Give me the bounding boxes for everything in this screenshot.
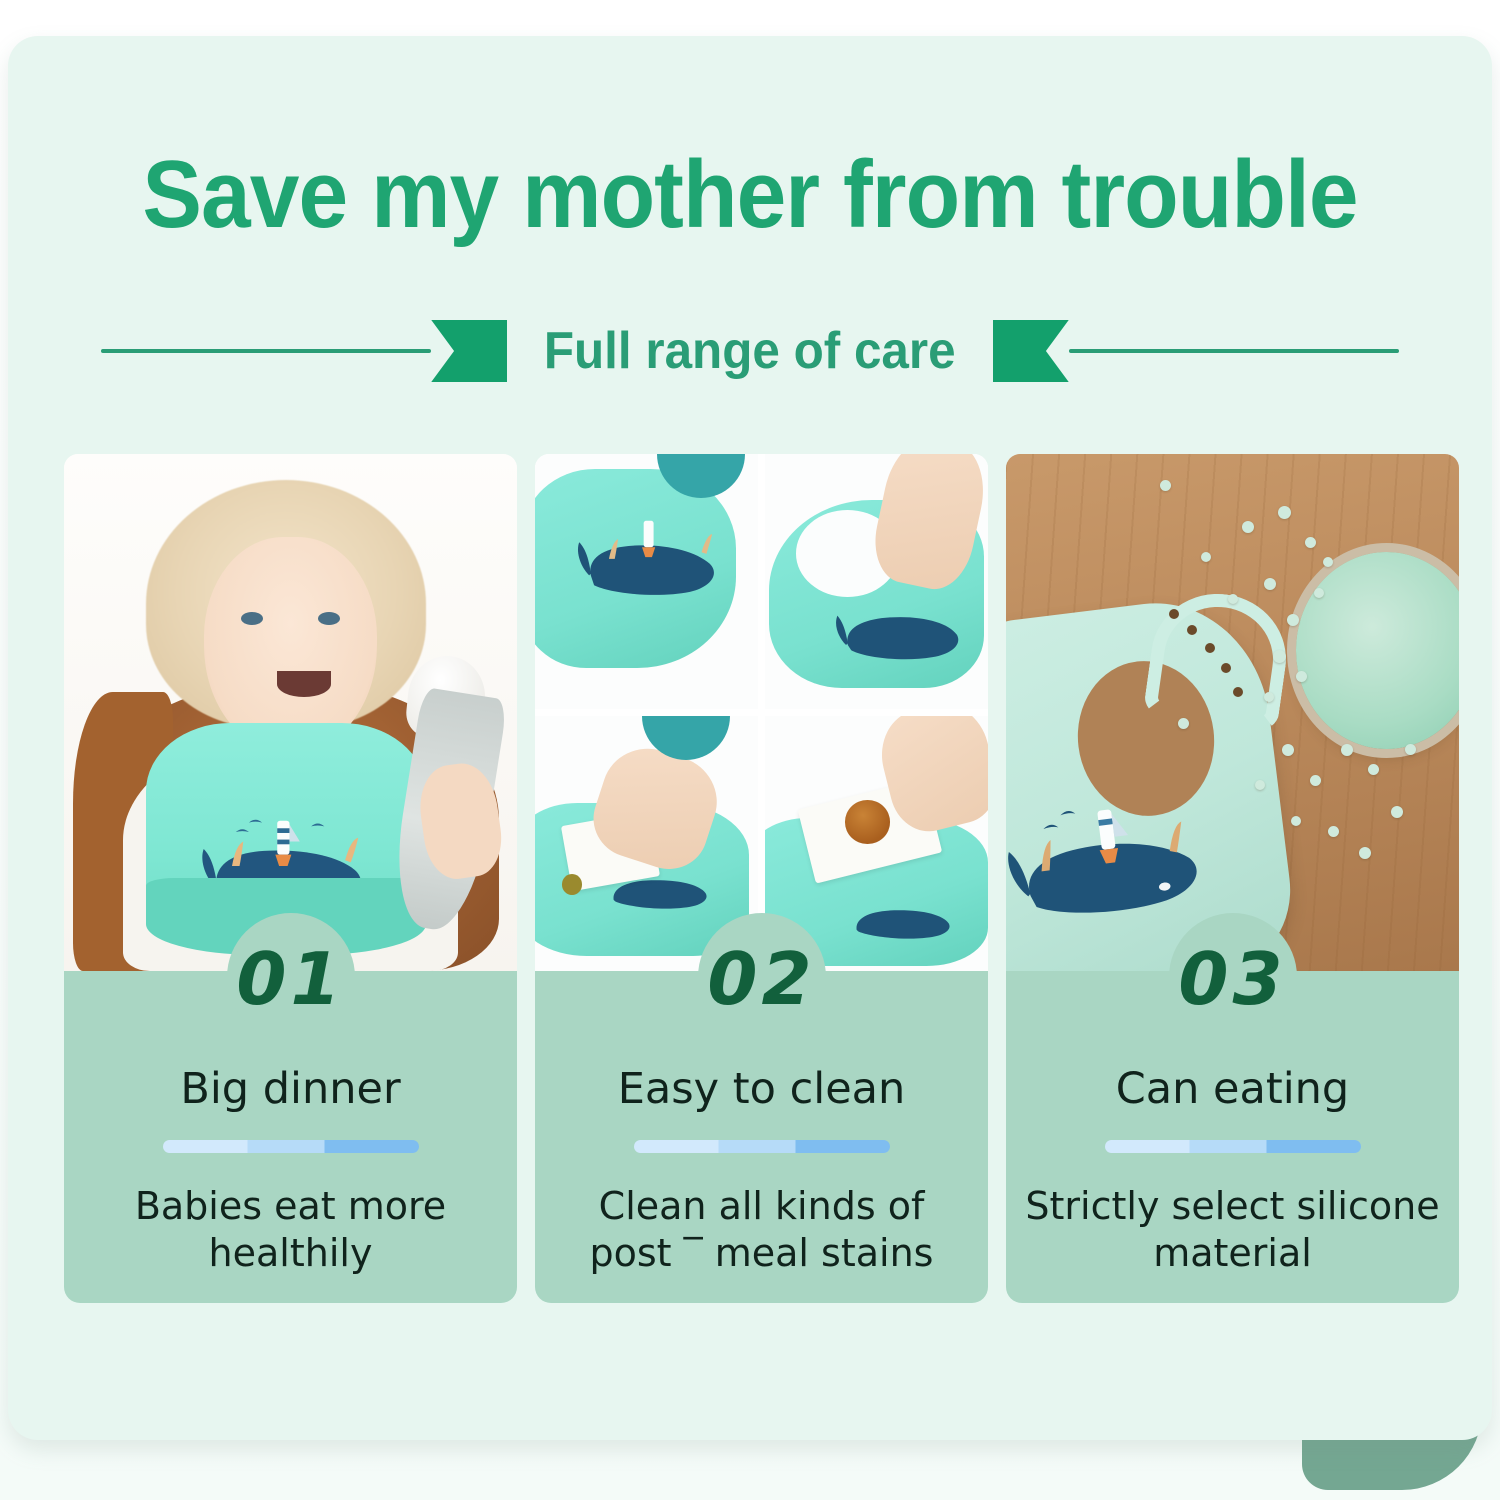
clean-step-panel-1 bbox=[535, 454, 758, 709]
infographic-root: Save my mother from trouble Full range o… bbox=[0, 0, 1500, 1500]
silicone-pellet bbox=[1228, 594, 1238, 604]
silicone-pellet bbox=[1405, 744, 1416, 755]
silicone-pellet bbox=[1310, 775, 1321, 786]
card-number: 02 bbox=[707, 937, 815, 1021]
feature-card: 02 Easy to clean Clean all kinds of post… bbox=[535, 454, 988, 1303]
card-photo-easy-to-clean bbox=[535, 454, 988, 971]
silicone-pellet bbox=[1160, 480, 1171, 491]
silicone-pellet bbox=[1391, 806, 1403, 818]
feature-card: 03 Can eating Strictly select silicone m… bbox=[1006, 454, 1459, 1303]
rule-right bbox=[1069, 349, 1399, 353]
silicone-pellet bbox=[1278, 506, 1291, 519]
silicone-pellet bbox=[1341, 744, 1353, 756]
silicone-pellet bbox=[1255, 780, 1265, 790]
silicone-pellet bbox=[1296, 671, 1307, 682]
food-crumb-shape bbox=[562, 874, 582, 894]
flag-left-icon bbox=[431, 320, 507, 382]
rule-left bbox=[101, 349, 431, 353]
feature-card-list: 01 Big dinner Babies eat more healthily bbox=[64, 454, 1460, 1303]
page-title: Save my mother from trouble bbox=[60, 140, 1440, 250]
silicone-pellet bbox=[1305, 537, 1316, 548]
clean-step-panel-2 bbox=[765, 454, 988, 709]
child-eye-right-shape bbox=[318, 612, 340, 625]
card-description: Clean all kinds of post ‾ meal stains bbox=[553, 1183, 970, 1277]
card-divider-bar bbox=[634, 1140, 890, 1153]
strap-hole bbox=[1233, 687, 1243, 697]
card-number: 01 bbox=[236, 937, 344, 1021]
silicone-pellet bbox=[1282, 744, 1294, 756]
strap-hole bbox=[1205, 643, 1215, 653]
card-body: 03 Can eating Strictly select silicone m… bbox=[1006, 971, 1459, 1303]
card-photo-big-dinner bbox=[64, 454, 517, 971]
child-eye-left-shape bbox=[241, 612, 263, 625]
feature-card: 01 Big dinner Babies eat more healthily bbox=[64, 454, 517, 1303]
subtitle-row: Full range of care bbox=[8, 306, 1492, 396]
whale-lighthouse-print-icon bbox=[1006, 762, 1215, 962]
card-body: 01 Big dinner Babies eat more healthily bbox=[64, 971, 517, 1303]
card-body: 02 Easy to clean Clean all kinds of post… bbox=[535, 971, 988, 1303]
page-subtitle: Full range of care bbox=[519, 321, 980, 381]
child-face-shape bbox=[204, 537, 376, 754]
card-description: Strictly select silicone material bbox=[1024, 1183, 1441, 1277]
card-divider-bar bbox=[163, 1140, 419, 1153]
child-mouth-shape bbox=[277, 671, 331, 697]
card-description: Babies eat more healthily bbox=[82, 1183, 499, 1277]
silicone-pellet bbox=[1328, 826, 1339, 837]
whale-print-icon bbox=[841, 884, 966, 955]
flag-right-icon bbox=[993, 320, 1069, 382]
card-headline: Easy to clean bbox=[553, 1067, 970, 1112]
whale-print-icon bbox=[566, 490, 731, 628]
whale-print-icon bbox=[827, 587, 965, 674]
card-headline: Big dinner bbox=[82, 1067, 499, 1112]
card-divider-bar bbox=[1105, 1140, 1361, 1153]
food-stain-shape bbox=[845, 800, 890, 843]
silicone-pellet bbox=[1201, 552, 1211, 562]
card-headline: Can eating bbox=[1024, 1067, 1441, 1112]
silicone-pellet bbox=[1178, 718, 1189, 729]
card-photo-can-eating bbox=[1006, 454, 1459, 971]
silicone-pellet bbox=[1264, 692, 1274, 702]
silicone-pellet bbox=[1242, 521, 1254, 533]
content-panel: Save my mother from trouble Full range o… bbox=[8, 36, 1492, 1440]
strap-hole bbox=[1187, 625, 1197, 635]
card-number: 03 bbox=[1178, 937, 1286, 1021]
